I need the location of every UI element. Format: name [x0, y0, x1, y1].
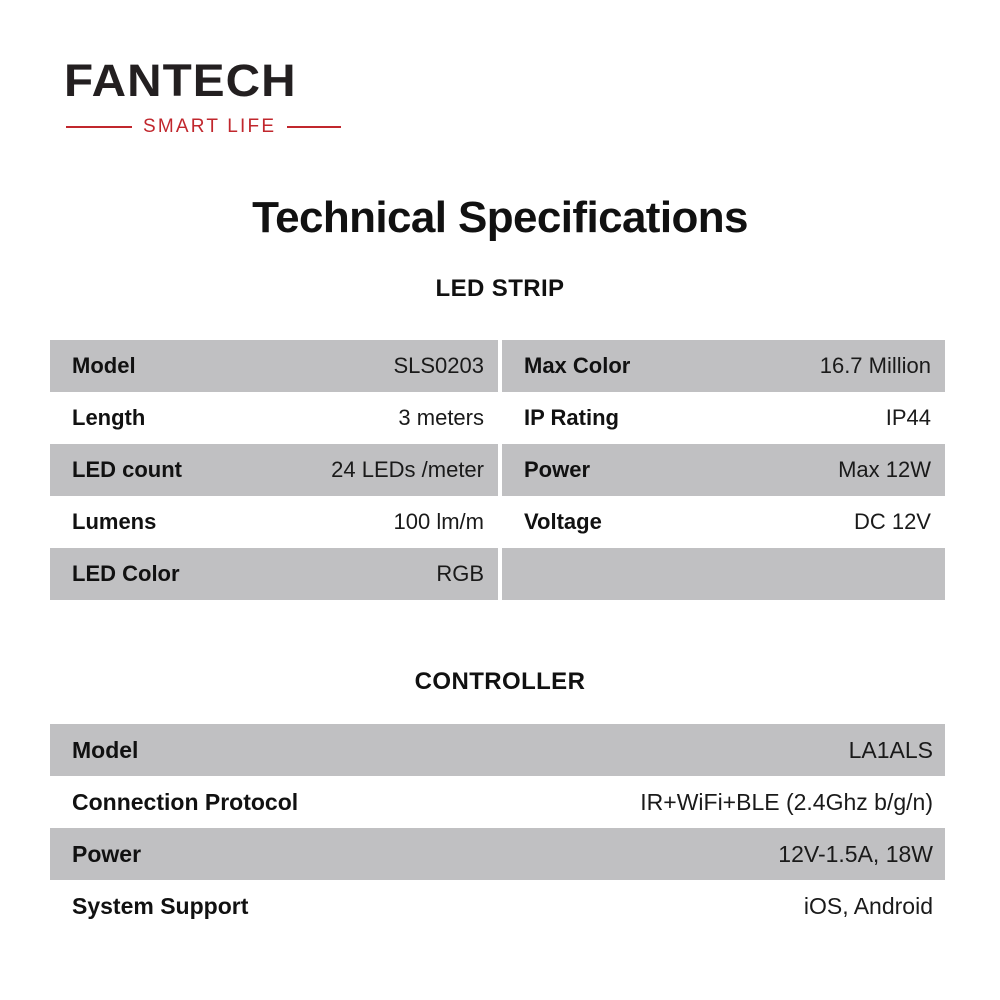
brand-tagline: SMART LIFE [66, 116, 344, 138]
spec-label: Voltage [524, 509, 602, 535]
spec-label: Power [524, 457, 590, 483]
table-row: Power 12V-1.5A, 18W [50, 828, 945, 880]
table-row: LED Color RGB [50, 548, 498, 600]
table-row: Connection Protocol IR+WiFi+BLE (2.4Ghz … [50, 776, 945, 828]
section-heading-controller: CONTROLLER [0, 668, 1000, 696]
brand-tagline-text: SMART LIFE [132, 116, 287, 138]
controller-table: Model LA1ALS Connection Protocol IR+WiFi… [50, 724, 945, 932]
spec-value: 16.7 Million [820, 353, 931, 379]
spec-label: Length [72, 405, 145, 431]
spec-label: Connection Protocol [72, 789, 298, 816]
section-heading-led-strip: LED STRIP [0, 275, 1000, 303]
spec-value: iOS, Android [804, 893, 933, 920]
spec-value: IP44 [886, 405, 931, 431]
table-row: IP Rating IP44 [502, 392, 945, 444]
spec-value: DC 12V [854, 509, 931, 535]
spec-label: Model [72, 737, 138, 764]
spec-label: LED count [72, 457, 182, 483]
spec-value: SLS0203 [393, 353, 484, 379]
tagline-rule-right-icon [287, 126, 341, 129]
table-row: Model SLS0203 [50, 340, 498, 392]
spec-value: LA1ALS [849, 737, 933, 764]
spec-label: Power [72, 841, 141, 868]
tagline-rule-left-icon [66, 126, 132, 129]
table-row: Max Color 16.7 Million [502, 340, 945, 392]
table-row: Length 3 meters [50, 392, 498, 444]
spec-value: 100 lm/m [394, 509, 484, 535]
page-title: Technical Specifications [0, 193, 1000, 243]
table-row: Lumens 100 lm/m [50, 496, 498, 548]
brand-wordmark: FANTECH [64, 58, 371, 103]
led-strip-table-right: Max Color 16.7 Million IP Rating IP44 Po… [502, 340, 945, 600]
table-row: LED count 24 LEDs /meter [50, 444, 498, 496]
spec-label: Model [72, 353, 136, 379]
spec-label: LED Color [72, 561, 180, 587]
table-row: Voltage DC 12V [502, 496, 945, 548]
spec-label: Lumens [72, 509, 156, 535]
spec-value: 12V-1.5A, 18W [778, 841, 933, 868]
table-row-empty [502, 548, 945, 600]
spec-label: System Support [72, 893, 248, 920]
spec-value: IR+WiFi+BLE (2.4Ghz b/g/n) [640, 789, 933, 816]
table-row: Model LA1ALS [50, 724, 945, 776]
spec-value: 3 meters [398, 405, 484, 431]
spec-label: Max Color [524, 353, 630, 379]
spec-value: 24 LEDs /meter [331, 457, 484, 483]
led-strip-table-left: Model SLS0203 Length 3 meters LED count … [50, 340, 498, 600]
table-row: System Support iOS, Android [50, 880, 945, 932]
table-row: Power Max 12W [502, 444, 945, 496]
spec-label: IP Rating [524, 405, 619, 431]
spec-value: Max 12W [838, 457, 931, 483]
brand-logo: FANTECH SMART LIFE [64, 58, 354, 138]
spec-value: RGB [436, 561, 484, 587]
